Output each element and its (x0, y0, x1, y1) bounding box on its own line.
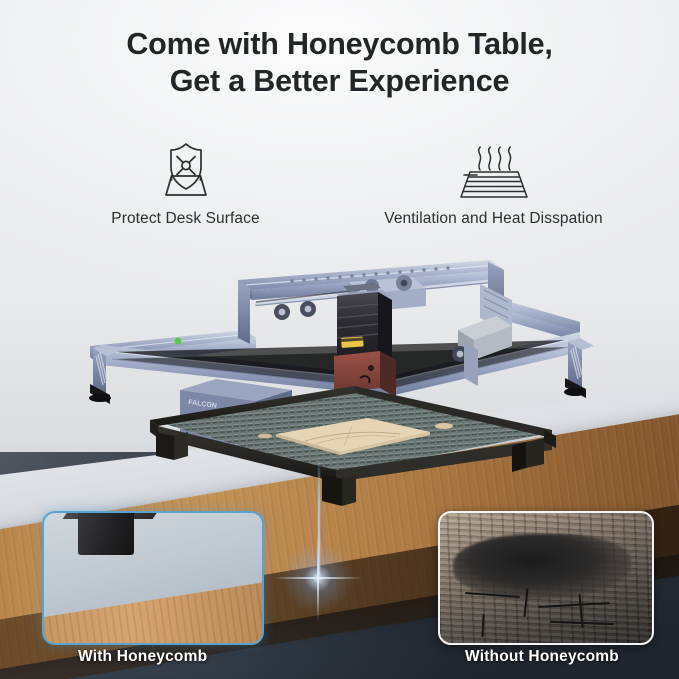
comparison-panel-without-honeycomb (438, 511, 654, 645)
feature-label: Ventilation and Heat Disspation (358, 210, 630, 228)
shield-desk-icon (50, 139, 322, 201)
honeycomb-table (100, 378, 580, 518)
headline-line-2: Get a Better Experience (0, 63, 679, 100)
feature-label: Protect Desk Surface (50, 210, 322, 228)
feature-row: Protect Desk Surface (0, 132, 679, 228)
heat-vent-grate-icon (358, 139, 630, 201)
panel-table-foot (78, 511, 134, 555)
comparison-caption-left: With Honeycomb (78, 648, 207, 666)
rear-left-upright (238, 282, 250, 344)
laser-spark (275, 535, 361, 621)
wood-offcut (435, 423, 453, 429)
comparison-caption-right: Without Honeycomb (465, 648, 619, 666)
feature-heat-dissipation: Ventilation and Heat Disspation (358, 139, 630, 228)
comparison-panel-with-honeycomb (42, 511, 264, 645)
headline: Come with Honeycomb Table, Get a Better … (0, 26, 679, 100)
promo-image-root: Come with Honeycomb Table, Get a Better … (0, 0, 679, 679)
wood-offcut (258, 434, 272, 439)
feature-protect-desk: Protect Desk Surface (50, 139, 322, 228)
headline-line-1: Come with Honeycomb Table, (126, 27, 552, 61)
